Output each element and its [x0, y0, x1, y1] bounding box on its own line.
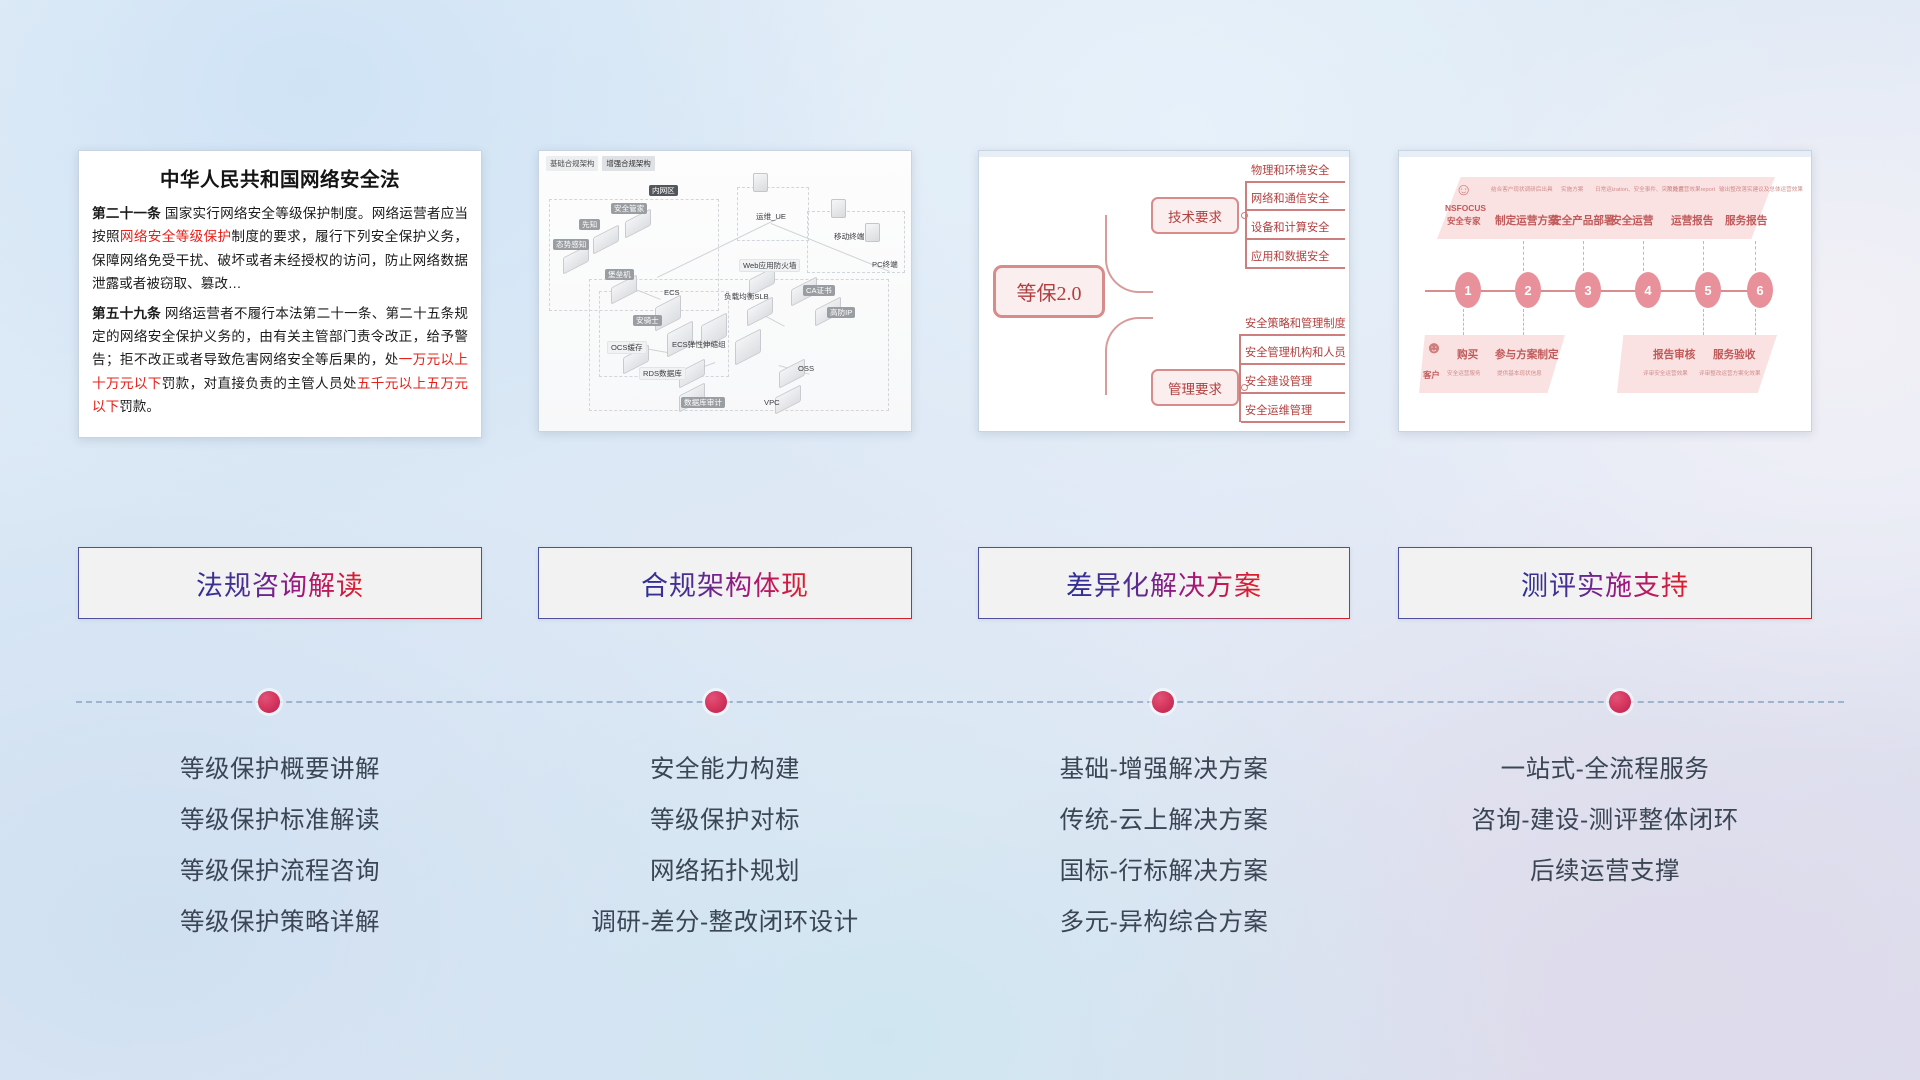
architecture-node-label: 堡垒机 [605, 269, 634, 280]
list-item: 等级保护概要讲解 [78, 744, 482, 795]
list-item: 等级保护对标 [538, 795, 912, 846]
list-item: 等级保护流程咨询 [78, 846, 482, 897]
timeline-step-4[interactable]: 4 [1635, 272, 1661, 308]
mindmap-leaf-device[interactable]: 设备和计算安全 [1251, 219, 1329, 235]
mindmap-leaf-operations[interactable]: 安全运维管理 [1245, 402, 1312, 418]
customer-item-4-sub: 评审整改运营方案化效果 [1699, 369, 1761, 377]
leader-step-6-down [1755, 309, 1756, 335]
list-item: 基础-增强解决方案 [978, 744, 1350, 795]
list-item: 调研-差分-整改闭环设计 [538, 897, 912, 948]
rail-dot-1[interactable] [258, 691, 280, 713]
vendor-item-2-sub: 实施方案 [1561, 185, 1583, 193]
architecture-node-label: OSS [795, 363, 817, 374]
architecture-node-label: 运维_UE [753, 211, 789, 222]
media-card-row: 中华人民共和国网络安全法 第二十一条 国家实行网络安全等级保护制度。网络运营者应… [0, 150, 1920, 440]
mindmap-leaf-underline-8 [1241, 421, 1345, 423]
vendor-item-4-main: 运营报告 [1671, 213, 1713, 228]
law-highlight-21: 网络安全等级保护 [120, 229, 232, 244]
headline-row: 法规咨询解读 合规架构体现 差异化解决方案 测评实施支持 [0, 547, 1920, 619]
leader-step-1-down [1463, 309, 1464, 335]
architecture-node-label: ECS [661, 287, 683, 298]
mindmap-leaf-network[interactable]: 网络和通信安全 [1251, 190, 1329, 206]
timeline-diagram: ☺ NSFOCUS 安全专家 ☻ 客户 结合客户现状调研后出具 制定运营方案 实… [1399, 151, 1811, 431]
law-paragraph-21: 第二十一条 国家实行网络安全等级保护制度。网络运营者应当按照网络安全等级保护制度… [92, 202, 468, 296]
customer-item-4-main: 服务验收 [1713, 347, 1755, 362]
list-item: 等级保护标准解读 [78, 795, 482, 846]
mindmap-leaf-construction[interactable]: 安全建设管理 [1245, 373, 1312, 389]
vendor-role: 安全专家 [1447, 215, 1481, 227]
list-item: 网络拓扑规划 [538, 846, 912, 897]
leader-step-6-up [1755, 241, 1756, 271]
mindmap-leaf-policy[interactable]: 安全策略和管理制度 [1245, 315, 1346, 331]
architecture-node-label: 移动终端 [831, 231, 867, 242]
vendor-person-star-icon: ☺ [1455, 181, 1472, 198]
mindmap-leaf-underline-7 [1241, 392, 1345, 394]
architecture-tab-group[interactable]: 基础合规架构 增强合规架构 [546, 156, 655, 171]
architecture-node-label: CA证书 [803, 285, 835, 296]
mindmap-diagram: 等保2.0 技术要求 管理要求 物理和环境安全 网络和通信安全 设备和计算安全 … [979, 151, 1349, 431]
vendor-item-5-main: 服务报告 [1725, 213, 1767, 228]
list-item: 后续运营支撑 [1398, 846, 1812, 897]
detail-column-3: 基础-增强解决方案 传统-云上解决方案 国标-行标解决方案 多元-异构综合方案 [978, 744, 1350, 948]
mindmap-spine-tech [1245, 181, 1247, 269]
card-dengbao-mindmap[interactable]: 等保2.0 技术要求 管理要求 物理和环境安全 网络和通信安全 设备和计算安全 … [978, 150, 1350, 432]
list-item: 等级保护策略详解 [78, 897, 482, 948]
architecture-node-label: Web应用防火墙 [739, 259, 800, 272]
mindmap-spine-mgmt [1239, 334, 1241, 422]
customer-item-3-sub: 评审安全运营效果 [1643, 369, 1688, 377]
law-text-mid-59: 罚款，对直接负责的主管人员处 [162, 376, 357, 391]
mindmap-leaf-underline-6 [1241, 363, 1345, 365]
timeline-step-5[interactable]: 5 [1695, 272, 1721, 308]
list-item: 传统-云上解决方案 [978, 795, 1350, 846]
headline-label-1: 法规咨询解读 [196, 564, 364, 603]
leader-step-2-up [1523, 241, 1524, 271]
leader-step-2-down [1523, 309, 1524, 335]
timeline-band-customer-right [1617, 335, 1777, 393]
architecture-node-label: 安全管家 [611, 203, 647, 214]
mindmap-leaf-underline-3 [1247, 238, 1345, 240]
law-paragraph-59: 第五十九条 网络运营者不履行本法第二十一条、第二十五条规定的网络安全保护义务的，… [92, 302, 468, 419]
customer-role: 客户 [1423, 369, 1440, 381]
detail-list-row: 等级保护概要讲解 等级保护标准解读 等级保护流程咨询 等级保护策略详解 安全能力… [0, 744, 1920, 974]
rail-dot-2[interactable] [705, 691, 727, 713]
architecture-diagram: 基础合规架构 增强合规架构 [539, 151, 911, 431]
detail-column-4: 一站式-全流程服务 咨询-建设-测评整体闭环 后续运营支撑 [1398, 744, 1812, 897]
vendor-item-4-sub: 阶段运营效果report [1667, 185, 1715, 193]
customer-item-3-main: 报告审核 [1653, 347, 1695, 362]
list-item: 多元-异构综合方案 [978, 897, 1350, 948]
leader-step-3-up [1583, 241, 1584, 271]
architecture-node-label: 高防IP [827, 307, 855, 318]
headline-box-regulation-consulting[interactable]: 法规咨询解读 [78, 547, 482, 619]
headline-label-2: 合规架构体现 [641, 564, 809, 603]
law-document: 中华人民共和国网络安全法 第二十一条 国家实行网络安全等级保护制度。网络运营者应… [79, 151, 481, 432]
node-ops-screen-icon [753, 173, 768, 192]
slide-canvas: 中华人民共和国网络安全法 第二十一条 国家实行网络安全等级保护制度。网络运营者应… [0, 0, 1920, 1080]
timeline-step-1[interactable]: 1 [1455, 272, 1481, 308]
node-pc-screen-icon [865, 223, 880, 242]
rail-dot-4[interactable] [1609, 691, 1631, 713]
customer-person-check-icon: ☻ [1425, 339, 1443, 356]
mindmap-root-node[interactable]: 等保2.0 [993, 265, 1105, 318]
architecture-node-label: VPC [761, 397, 783, 408]
architecture-node-label: 数据库审计 [681, 397, 725, 408]
vendor-item-1-sub: 结合客户现状调研后出具 [1491, 185, 1553, 193]
mindmap-leaf-application[interactable]: 应用和数据安全 [1251, 248, 1329, 264]
mindmap-leaf-underline-2 [1247, 209, 1345, 211]
mindmap-leaf-physical[interactable]: 物理和环境安全 [1251, 162, 1329, 178]
tab-basic-architecture[interactable]: 基础合规架构 [546, 156, 598, 171]
detail-column-2: 安全能力构建 等级保护对标 网络拓扑规划 调研-差分-整改闭环设计 [538, 744, 912, 948]
list-item: 国标-行标解决方案 [978, 846, 1350, 897]
law-article-label-21: 第二十一条 [92, 206, 161, 221]
mindmap-leaf-underline-1 [1247, 181, 1345, 183]
headline-label-3: 差异化解决方案 [1066, 564, 1262, 603]
architecture-node-label: 安骑士 [633, 315, 662, 326]
architecture-node-label: 态势感知 [553, 239, 589, 250]
vendor-item-3-main: 安全运营 [1611, 213, 1653, 228]
detail-column-1: 等级保护概要讲解 等级保护标准解读 等级保护流程咨询 等级保护策略详解 [78, 744, 482, 948]
vendor-item-5-sub: 输出整改落实建议及总体运营效果 [1719, 185, 1803, 193]
architecture-node-label: OCS缓存 [607, 341, 647, 354]
timeline-step-2[interactable]: 2 [1515, 272, 1541, 308]
headline-box-compliance-architecture[interactable]: 合规架构体现 [538, 547, 912, 619]
node-mobile-screen-icon [831, 199, 846, 218]
leader-step-4-up [1643, 241, 1644, 271]
architecture-node-label: RDS数据库 [639, 367, 686, 380]
tab-enhanced-architecture[interactable]: 增强合规架构 [602, 156, 654, 171]
architecture-node-label: 内网区 [649, 185, 678, 196]
list-item: 一站式-全流程服务 [1398, 744, 1812, 795]
mindmap-leaf-org[interactable]: 安全管理机构和人员 [1245, 344, 1346, 360]
list-item: 咨询-建设-测评整体闭环 [1398, 795, 1812, 846]
architecture-node-label: 先知 [579, 219, 600, 230]
mindmap-leaf-underline-4 [1247, 267, 1345, 269]
headline-box-assessment-support[interactable]: 测评实施支持 [1398, 547, 1812, 619]
leader-step-5-up [1703, 241, 1704, 271]
progress-rail [0, 691, 1920, 713]
list-item: 安全能力构建 [538, 744, 912, 795]
mindmap-leaf-underline-5 [1241, 334, 1345, 336]
law-text-after-59: 罚款。 [119, 399, 160, 414]
timeline-step-3[interactable]: 3 [1575, 272, 1601, 308]
customer-item-1-main: 购买 [1457, 347, 1478, 362]
customer-item-1-sub: 安全运营服务 [1447, 369, 1481, 377]
mindmap-branch-technical[interactable]: 技术要求 [1151, 197, 1239, 234]
customer-item-2-main: 参与方案制定 [1495, 347, 1559, 362]
vendor-item-1-main: 制定运营方案 [1495, 213, 1559, 228]
card-cloud-architecture[interactable]: 基础合规架构 增强合规架构 [538, 150, 912, 432]
mindmap-curve-tech [1105, 215, 1153, 293]
customer-item-2-sub: 提供基本现状信息 [1497, 369, 1542, 377]
vendor-brand: NSFOCUS [1445, 203, 1486, 213]
law-title: 中华人民共和国网络安全法 [92, 163, 468, 192]
card-cybersecurity-law[interactable]: 中华人民共和国网络安全法 第二十一条 国家实行网络安全等级保护制度。网络运营者应… [78, 150, 482, 438]
mindmap-branch-management[interactable]: 管理要求 [1151, 369, 1239, 406]
card-service-timeline[interactable]: ☺ NSFOCUS 安全专家 ☻ 客户 结合客户现状调研后出具 制定运营方案 实… [1398, 150, 1812, 432]
architecture-node-label: PC终端 [869, 259, 901, 270]
timeline-step-6[interactable]: 6 [1747, 272, 1773, 308]
headline-label-4: 测评实施支持 [1521, 564, 1689, 603]
architecture-node-label: 负载均衡SLB [721, 291, 772, 302]
rail-dot-3[interactable] [1152, 691, 1174, 713]
vendor-item-2-main: 安全产品部署 [1551, 213, 1615, 228]
architecture-node-label: ECS弹性伸缩组 [669, 339, 729, 350]
mindmap-curve-mgmt [1105, 317, 1153, 395]
headline-box-differentiated-solution[interactable]: 差异化解决方案 [978, 547, 1350, 619]
rail-dashed-line [76, 701, 1844, 703]
leader-step-5-down [1703, 309, 1704, 335]
law-article-label-59: 第五十九条 [92, 306, 161, 321]
